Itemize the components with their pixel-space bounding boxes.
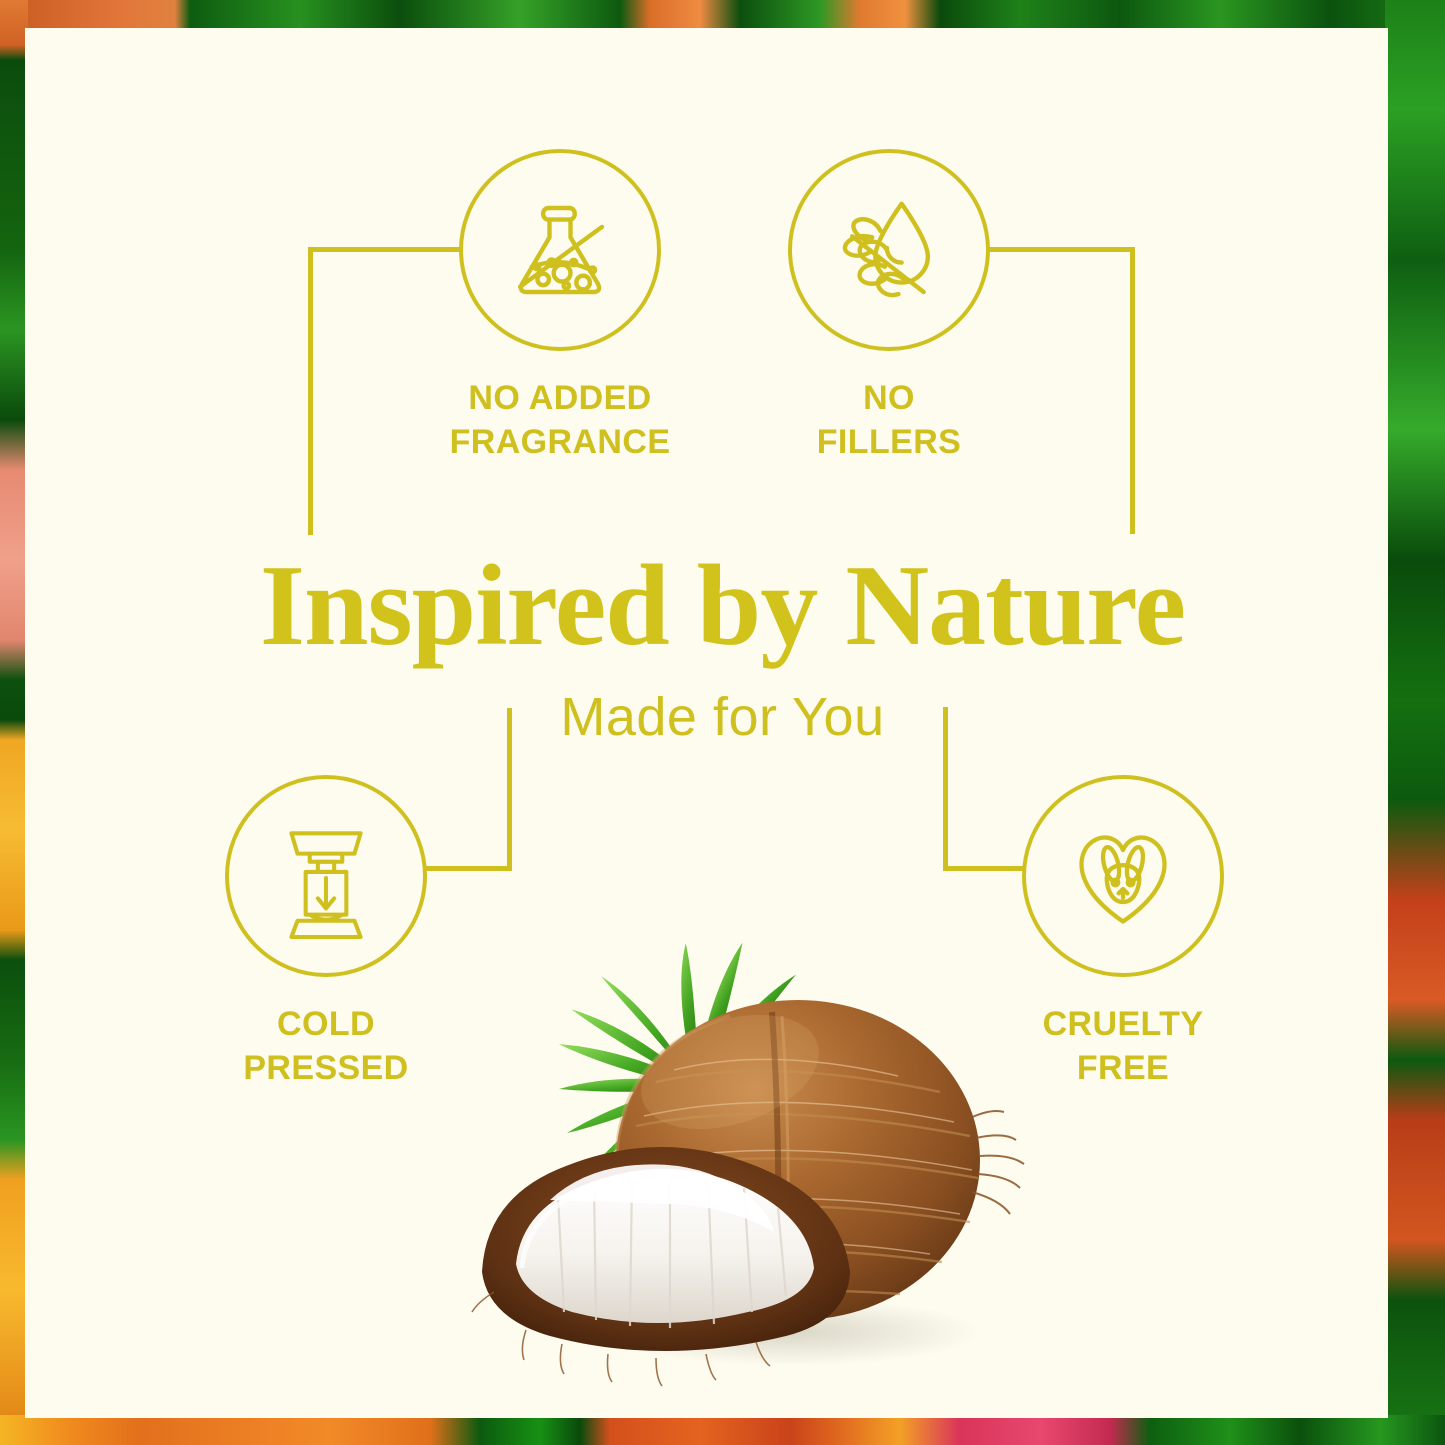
connector-line-no-added-fragrance-horizontal bbox=[308, 247, 460, 252]
badge-cold-pressed: COLD PRESSED bbox=[225, 775, 427, 1090]
connector-line-no-fillers-vertical bbox=[1130, 247, 1135, 534]
badge-no-fillers: NO FILLERS bbox=[788, 149, 990, 464]
badge-label-no-added-fragrance: NO ADDED FRAGRANCE bbox=[410, 377, 710, 464]
badge-circle-no-fillers bbox=[788, 149, 990, 351]
page-title: Inspired by Nature bbox=[0, 548, 1445, 664]
badge-no-added-fragrance: NO ADDED FRAGRANCE bbox=[459, 149, 661, 464]
bunny-heart-icon bbox=[1058, 811, 1188, 941]
connector-line-no-added-fragrance-vertical bbox=[308, 247, 313, 535]
badge-label-no-fillers: NO FILLERS bbox=[759, 377, 1019, 464]
press-machine-icon bbox=[265, 815, 387, 937]
infographic-canvas: NO ADDED FRAGRANCE NO FILLERS bbox=[0, 0, 1445, 1445]
flask-no-chemicals-icon bbox=[497, 187, 623, 313]
badge-circle-cold-pressed bbox=[225, 775, 427, 977]
badge-circle-no-added-fragrance bbox=[459, 149, 661, 351]
connector-line-no-fillers-horizontal bbox=[988, 247, 1135, 252]
droplet-leaf-icon bbox=[826, 187, 952, 313]
page-subtitle: Made for You bbox=[0, 686, 1445, 748]
coconut-artwork bbox=[430, 820, 1070, 1420]
